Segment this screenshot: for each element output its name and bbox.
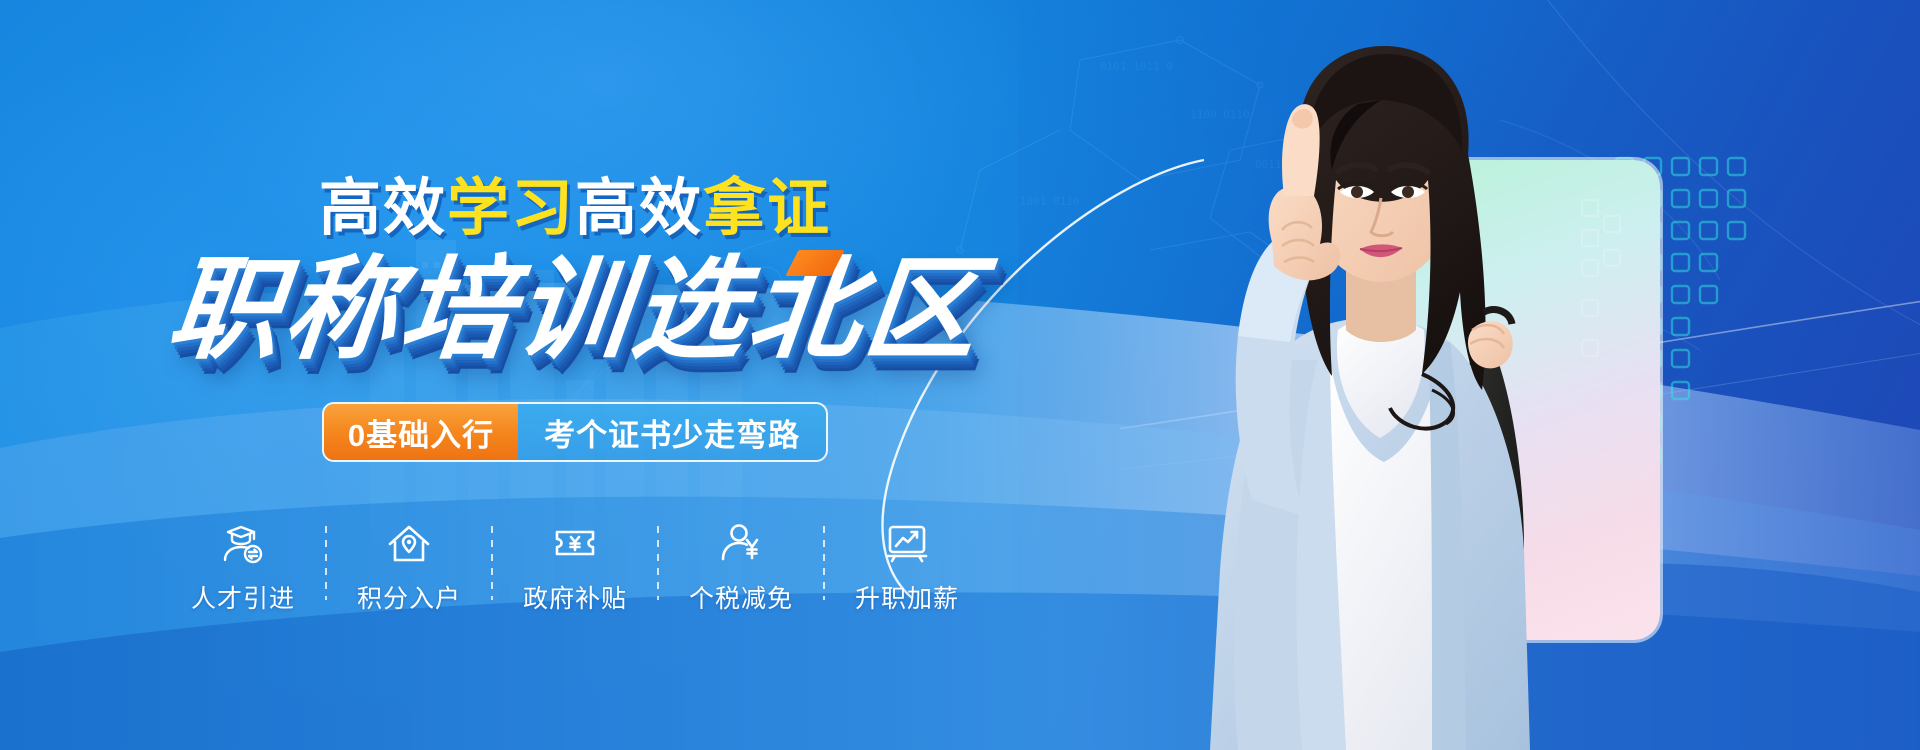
graduate-person-icon — [220, 520, 266, 566]
feature-label-0: 人才引进 — [191, 579, 295, 615]
feature-divider-3 — [823, 526, 825, 600]
feature-item-2[interactable]: 政府补贴 — [508, 520, 642, 615]
person-yuan-icon — [718, 520, 764, 566]
feature-label-3: 个税减免 — [689, 579, 793, 615]
sub-headline-part-1: 高效 — [319, 174, 447, 243]
badge-right-label: 考个证书少走弯路 — [518, 404, 826, 460]
feature-item-4[interactable]: 升职加薪 — [840, 520, 974, 615]
feature-label-4: 升职加薪 — [855, 579, 959, 615]
main-headline-text: 职称培训选北区 — [163, 254, 987, 366]
sub-headline-part-3: 高效 — [575, 174, 703, 243]
sub-headline-part-2: 学习 — [447, 174, 575, 243]
main-headline: 职称培训选北区 — [163, 254, 987, 366]
badge-left-label: 0基础入行 — [324, 404, 518, 460]
presenter-photo — [1132, 30, 1652, 750]
ticket-yuan-icon — [552, 520, 598, 566]
feature-item-3[interactable]: 个税减免 — [674, 520, 808, 615]
sub-headline-part-4: 拿证 — [703, 174, 831, 243]
feature-label-1: 积分入户 — [357, 579, 461, 615]
promo-banner: 0101 1011 0 1100 0110 0011 1010 1001 011… — [0, 0, 1920, 750]
feature-list: 人才引进 积分入户 — [176, 520, 974, 615]
feature-divider-0 — [325, 526, 327, 600]
tagline-badge[interactable]: 0基础入行 考个证书少走弯路 — [322, 402, 828, 462]
feature-item-1[interactable]: 积分入户 — [342, 520, 476, 615]
banner-content: 高效学习高效拿证 职称培训选北区 0基础入行 考个证书少走弯路 — [0, 0, 1150, 750]
person-photo-group — [1132, 0, 1652, 750]
feature-label-2: 政府补贴 — [523, 579, 627, 615]
house-pin-icon — [386, 520, 432, 566]
feature-divider-1 — [491, 526, 493, 600]
sub-headline: 高效学习高效拿证 — [319, 178, 831, 240]
feature-item-0[interactable]: 人才引进 — [176, 520, 310, 615]
chart-growth-icon — [884, 520, 930, 566]
feature-divider-2 — [657, 526, 659, 600]
